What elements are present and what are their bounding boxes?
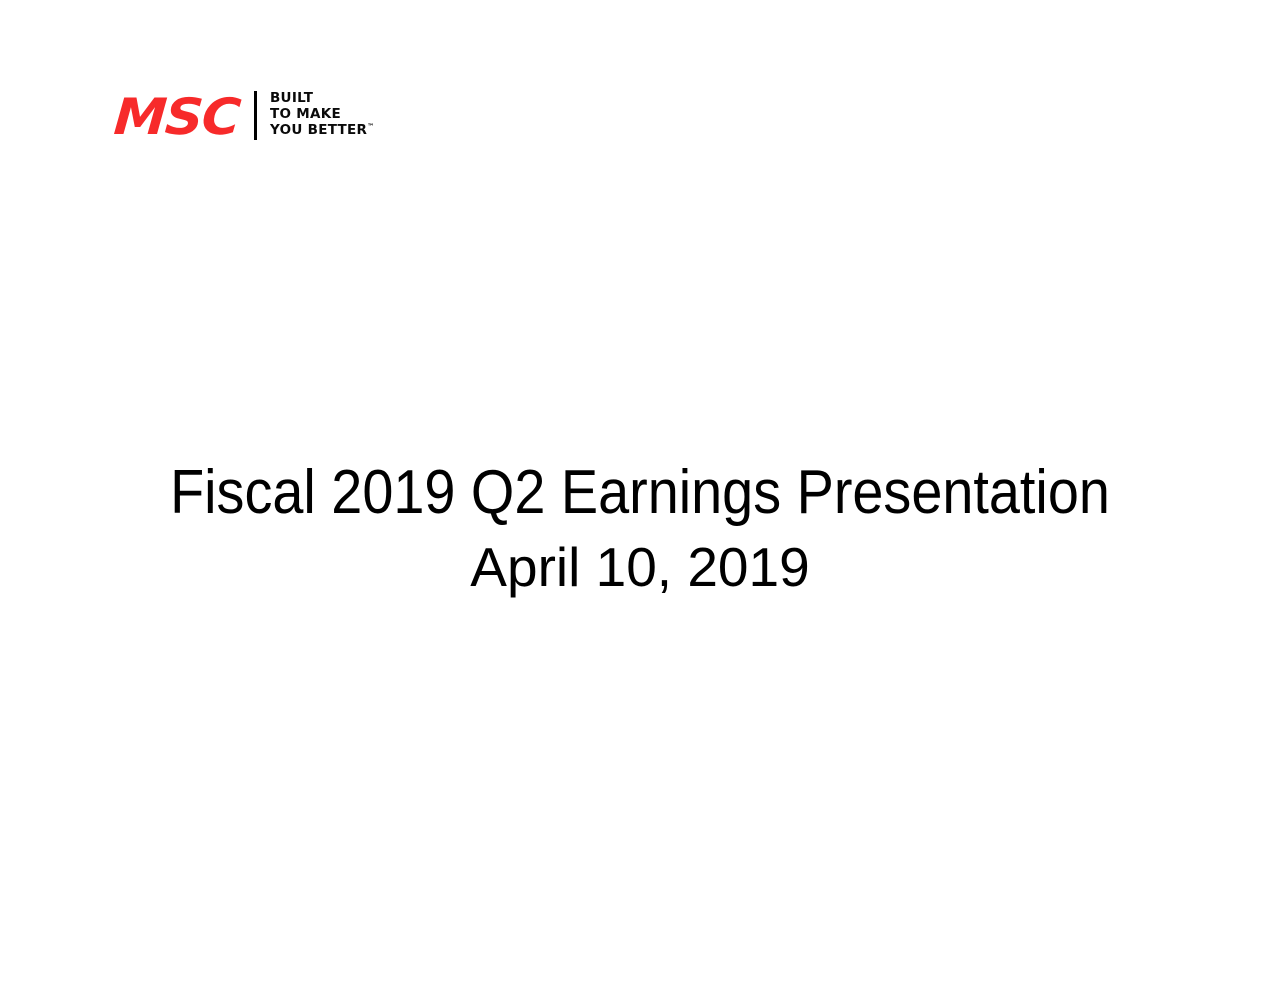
msc-logo-lockup: MSC BUILT TO MAKE YOU BETTER™ <box>116 88 374 144</box>
tagline-line-3-text: YOU BETTER <box>270 122 367 138</box>
msc-wordmark-logo: MSC <box>112 92 241 142</box>
logo-tagline: BUILT TO MAKE YOU BETTER™ <box>270 90 374 138</box>
logo-divider-bar-icon <box>254 91 257 140</box>
tagline-line-3: YOU BETTER™ <box>270 122 374 138</box>
slide-subtitle-date: April 10, 2019 <box>0 533 1280 601</box>
title-block: Fiscal 2019 Q2 Earnings Presentation Apr… <box>0 455 1280 601</box>
tagline-line-2: TO MAKE <box>270 106 374 122</box>
trademark-symbol: ™ <box>367 123 374 131</box>
tagline-line-1: BUILT <box>270 90 374 106</box>
slide-title: Fiscal 2019 Q2 Earnings Presentation <box>64 455 1216 531</box>
presentation-title-slide: MSC BUILT TO MAKE YOU BETTER™ Fiscal 201… <box>0 0 1280 989</box>
